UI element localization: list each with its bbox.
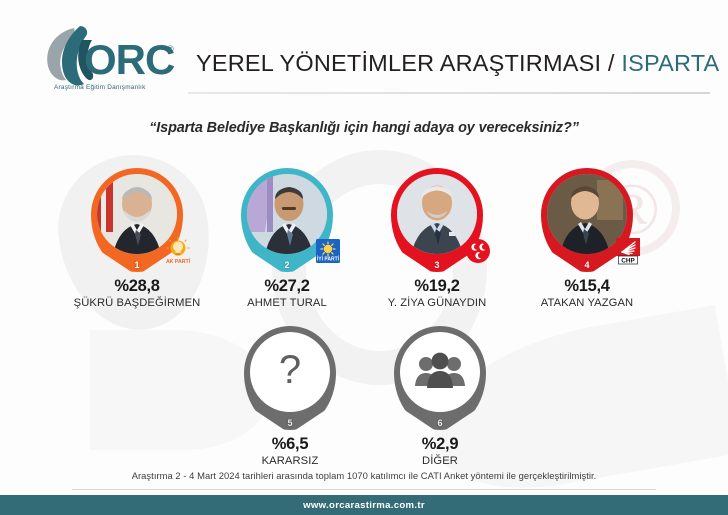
candidate-name-2: AHMET TURAL bbox=[212, 297, 362, 309]
header-divider bbox=[188, 92, 710, 94]
candidate-name-1: ŞÜKRÜ BAŞDEĞİRMEN bbox=[62, 297, 212, 309]
candidate-pin-1: 1 AK PARTİ bbox=[91, 168, 183, 272]
header: ORC ® Araştırma Eğitim Danışmanlık YEREL… bbox=[0, 0, 728, 104]
option-percent-6: %2,9 bbox=[365, 435, 515, 454]
party-label-1: AK PARTİ bbox=[166, 258, 191, 265]
candidate-rank-1: 1 bbox=[134, 260, 139, 270]
candidate-rank-4: 4 bbox=[584, 260, 589, 270]
option-name-5: KARARSIZ bbox=[215, 455, 365, 467]
option-name-6: DİĞER bbox=[365, 455, 515, 467]
title-city-name: ISPARTA bbox=[621, 50, 719, 76]
candidate-pin-4: 4 CHP bbox=[541, 168, 633, 272]
lightbulb-icon: AK PARTİ bbox=[163, 236, 193, 266]
option-pin-5: ? 5 bbox=[244, 326, 336, 430]
svg-text:ORC: ORC bbox=[84, 36, 175, 83]
sun-icon: İYİ PARTİ bbox=[313, 236, 343, 266]
footer-divider bbox=[72, 489, 656, 490]
survey-question: “Isparta Belediye Başkanlığı için hangi … bbox=[0, 120, 728, 136]
option-rank-6: 6 bbox=[437, 418, 442, 428]
candidate-rank-2: 2 bbox=[284, 260, 289, 270]
option-icon-wrap-6 bbox=[400, 332, 480, 412]
option-pin-6: 6 bbox=[394, 326, 486, 430]
poll-infographic: ® ORC ® Araştırma Eğitim Danışmanlık YER… bbox=[0, 0, 728, 515]
title-main-text: YEREL YÖNETİMLER ARAŞTIRMASI / bbox=[196, 50, 621, 76]
candidate-card-2[interactable]: 2 İYİ PARTİ bbox=[212, 168, 362, 309]
svg-text:?: ? bbox=[279, 348, 301, 392]
candidate-rank-3: 3 bbox=[434, 260, 439, 270]
methodology-note: Araştırma 2 - 4 Mart 2024 tarihleri aras… bbox=[0, 470, 728, 481]
orc-logo-tagline: Araştırma Eğitim Danışmanlık bbox=[54, 84, 146, 91]
candidate-percent-4: %15,4 bbox=[512, 277, 662, 296]
option-rank-5: 5 bbox=[287, 418, 292, 428]
candidate-pin-2: 2 İYİ PARTİ bbox=[241, 168, 333, 272]
candidate-pin-3: 3 bbox=[391, 168, 483, 272]
option-icon-wrap-5: ? bbox=[250, 332, 330, 412]
candidate-row-primary: 1 AK PARTİ %28,8 ŞÜKRÜ BAŞDEĞİRME bbox=[0, 168, 728, 308]
candidate-percent-2: %27,2 bbox=[212, 277, 362, 296]
candidate-name-4: ATAKAN YAZGAN bbox=[512, 297, 662, 309]
option-card-kararsiz[interactable]: ? 5 %6,5 KARARSIZ bbox=[215, 326, 365, 467]
page-title: YEREL YÖNETİMLER ARAŞTIRMASI / ISPARTA bbox=[196, 50, 706, 77]
three-crescents-icon bbox=[463, 236, 493, 266]
people-group-icon bbox=[413, 350, 467, 394]
candidate-row-secondary: ? 5 %6,5 KARARSIZ bbox=[0, 326, 728, 451]
candidate-percent-1: %28,8 bbox=[62, 277, 212, 296]
party-label-2: İYİ PARTİ bbox=[317, 256, 340, 263]
website-url-bar[interactable]: www.orcarastirma.com.tr bbox=[0, 495, 728, 515]
party-label-4: CHP bbox=[621, 257, 635, 264]
orc-logo: ORC ® Araştırma Eğitim Danışmanlık bbox=[36, 22, 181, 98]
candidate-card-4[interactable]: 4 CHP %15,4 ATAKAN YAZGAN bbox=[512, 168, 662, 309]
question-mark-icon: ? bbox=[264, 346, 316, 398]
orc-logo-mark: ORC ® bbox=[36, 22, 181, 92]
candidate-name-3: Y. ZİYA GÜNAYDIN bbox=[362, 297, 512, 309]
svg-text:®: ® bbox=[167, 44, 174, 54]
candidate-card-1[interactable]: 1 AK PARTİ %28,8 ŞÜKRÜ BAŞDEĞİRME bbox=[62, 168, 212, 309]
candidate-card-3[interactable]: 3 %19,2 Y. ZİYA GÜNAYDIN bbox=[362, 168, 512, 309]
six-arrows-icon: CHP bbox=[613, 236, 643, 266]
option-card-diger[interactable]: 6 %2,9 DİĞER bbox=[365, 326, 515, 467]
option-percent-5: %6,5 bbox=[215, 435, 365, 454]
candidate-percent-3: %19,2 bbox=[362, 277, 512, 296]
